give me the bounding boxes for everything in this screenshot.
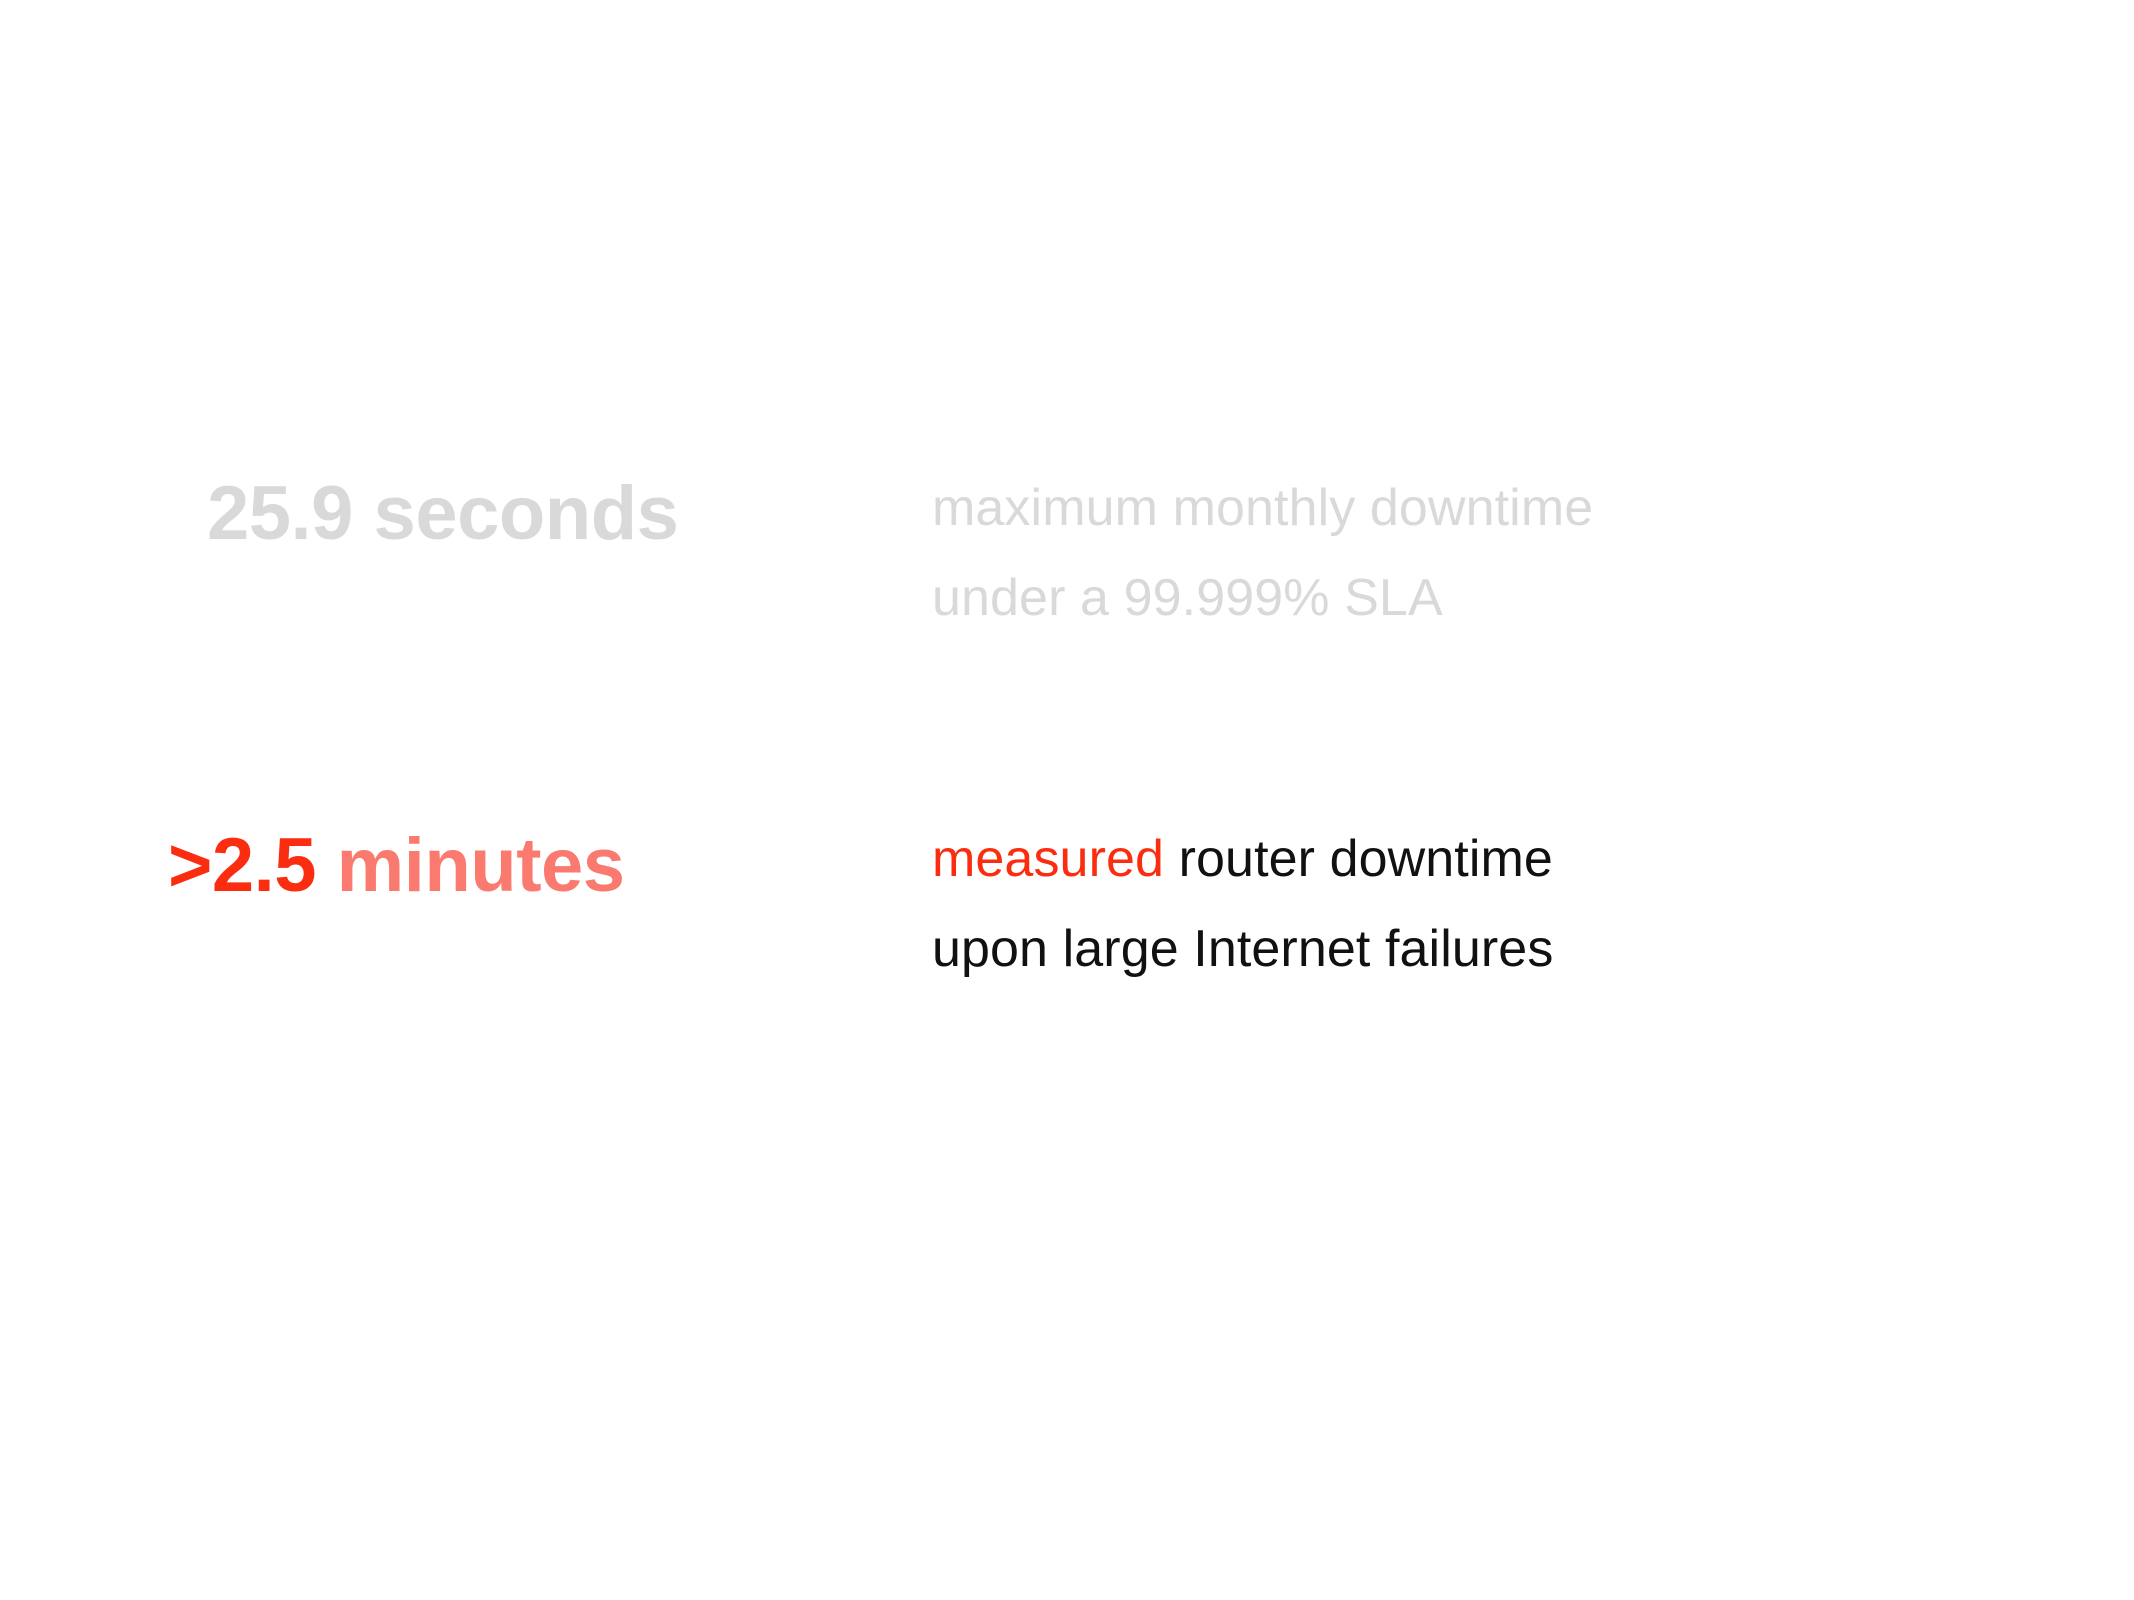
figure-unit-sla: seconds bbox=[374, 471, 679, 556]
figure-value-measured: >2.5 bbox=[168, 823, 316, 908]
figure-unit-measured: minutes bbox=[337, 823, 625, 908]
statement-body-sla: maximum monthly downtime under a 99.999%… bbox=[932, 463, 1593, 643]
statement-line-measured-1: measured router downtime bbox=[932, 814, 1553, 904]
figure-value-sla: 25.9 bbox=[207, 471, 353, 556]
statement-line-measured-1-rest: router downtime bbox=[1179, 830, 1553, 888]
statement-line-sla-2: under a 99.999% SLA bbox=[932, 553, 1593, 643]
statement-line-measured-2: upon large Internet failures bbox=[932, 904, 1553, 994]
slide-canvas: 25.9 seconds maximum monthly downtime un… bbox=[0, 0, 2134, 1600]
emphasis-measured: measured bbox=[932, 830, 1164, 888]
statement-line-sla-1: maximum monthly downtime bbox=[932, 463, 1593, 553]
statement-body-measured: measured router downtime upon large Inte… bbox=[932, 814, 1553, 994]
figure-measured: >2.5 minutes bbox=[168, 828, 625, 904]
figure-sla: 25.9 seconds bbox=[207, 476, 678, 552]
